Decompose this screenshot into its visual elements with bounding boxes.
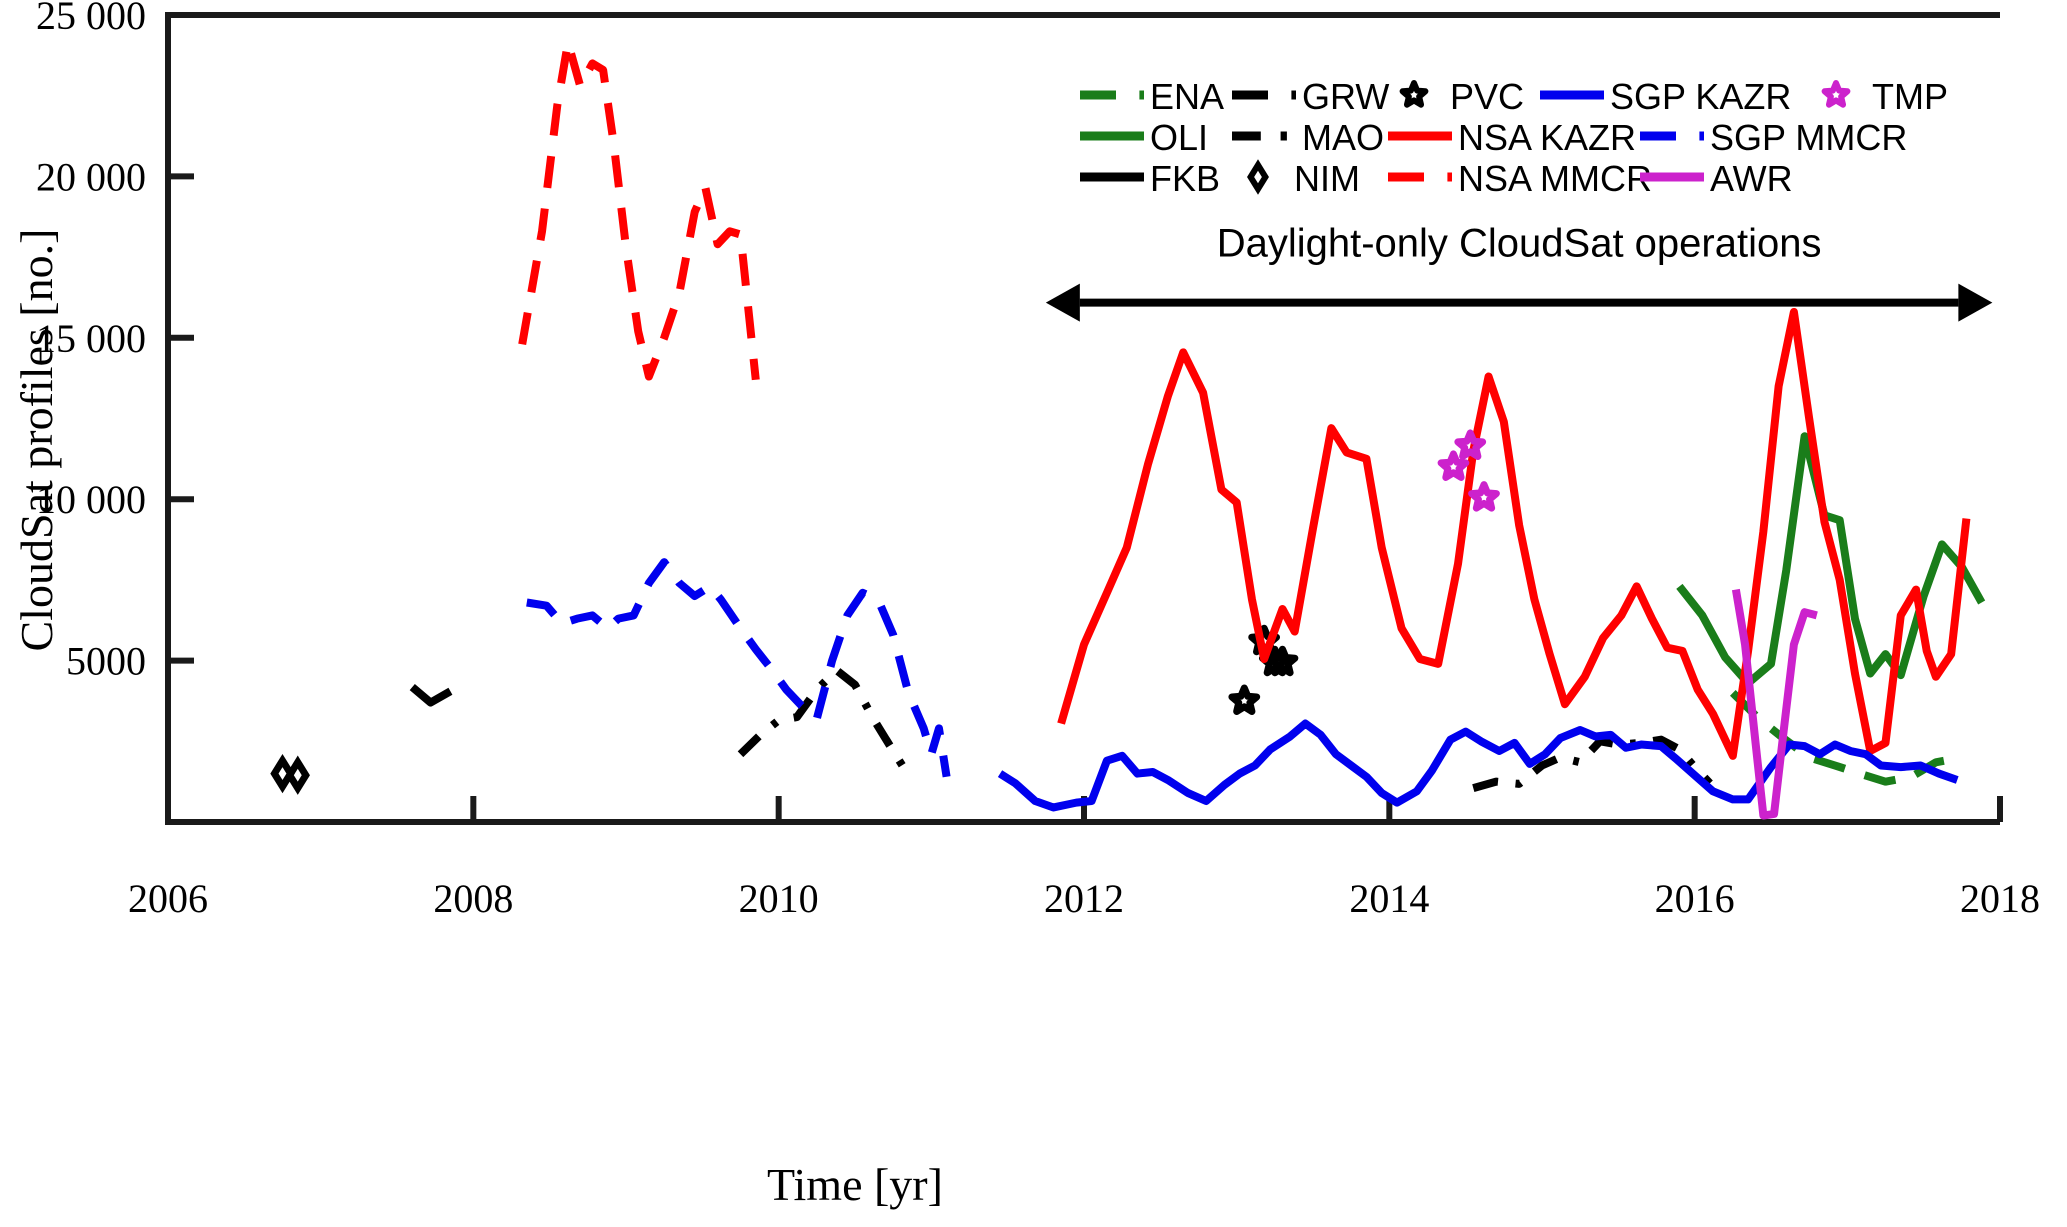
legend-item-mao[interactable]: MAO — [1232, 117, 1384, 158]
series-sgp-kazr — [1000, 724, 1957, 808]
data-marker-pentagram — [1472, 485, 1497, 509]
annotation-arrow-head-left — [1046, 284, 1080, 322]
legend-label: NIM — [1294, 158, 1360, 199]
legend-label: OLI — [1150, 117, 1208, 158]
legend-item-nim[interactable]: NIM — [1251, 158, 1360, 199]
legend-label: SGP MMCR — [1710, 117, 1907, 158]
x-axis-tick-label: 2014 — [1349, 876, 1429, 921]
annotation-arrow-head-right — [1958, 284, 1992, 322]
x-axis-tick-label: 2006 — [128, 876, 208, 921]
legend: ENAGRWPVCSGP KAZRTMPOLIMAONSA KAZRSGP MM… — [1080, 76, 1948, 199]
series-nsa-mmcr — [522, 42, 756, 379]
annotation-layer: Daylight-only CloudSat operations — [1046, 222, 1993, 322]
x-axis-tick-label: 2016 — [1655, 876, 1735, 921]
series-line — [527, 562, 947, 777]
legend-label: SGP KAZR — [1610, 76, 1791, 117]
series-mao — [741, 670, 1710, 788]
x-axis-title: Time [yr] — [767, 1159, 943, 1210]
series-nim — [274, 761, 305, 789]
legend-label: FKB — [1150, 158, 1220, 199]
legend-item-pvc[interactable]: PVC — [1403, 76, 1524, 117]
legend-label: ENA — [1150, 76, 1224, 117]
series-line — [412, 687, 450, 702]
cloudsat-profiles-timeseries-chart: 500010 00015 00020 00025 000200620082010… — [0, 0, 2067, 1227]
legend-label: NSA MMCR — [1458, 158, 1652, 199]
legend-item-ena[interactable]: ENA — [1080, 76, 1224, 117]
y-axis-tick-label: 5000 — [66, 639, 146, 684]
legend-label: NSA KAZR — [1458, 117, 1636, 158]
legend-label: MAO — [1302, 117, 1384, 158]
series-line — [1000, 724, 1957, 808]
legend-item-nsa-mmcr[interactable]: NSA MMCR — [1388, 158, 1652, 199]
legend-item-nsa-kazr[interactable]: NSA KAZR — [1388, 117, 1636, 158]
series-fkb — [412, 687, 450, 702]
legend-item-fkb[interactable]: FKB — [1080, 158, 1220, 199]
chart-figure: 500010 00015 00020 00025 000200620082010… — [0, 0, 2067, 1227]
series-line — [741, 670, 909, 775]
legend-label: TMP — [1872, 76, 1948, 117]
legend-label: PVC — [1450, 76, 1524, 117]
legend-item-sgp-mmcr[interactable]: SGP MMCR — [1640, 117, 1907, 158]
y-axis-tick-label: 25 000 — [36, 0, 146, 38]
legend-marker-diamond-icon — [1251, 165, 1266, 189]
data-marker-diamond — [290, 762, 306, 788]
y-axis-tick-label: 20 000 — [36, 154, 146, 199]
legend-item-oli[interactable]: OLI — [1080, 117, 1208, 158]
legend-label: GRW — [1302, 76, 1389, 117]
annotation-label: Daylight-only CloudSat operations — [1217, 222, 1822, 266]
series-line — [522, 42, 756, 379]
legend-marker-pentagram-icon — [1403, 83, 1426, 105]
y-axis-title: CloudSat profiles [no.] — [11, 229, 62, 652]
legend-item-tmp[interactable]: TMP — [1825, 76, 1948, 117]
legend-item-awr[interactable]: AWR — [1640, 158, 1793, 199]
series-nsa-kazr — [1061, 312, 1966, 756]
legend-item-grw[interactable]: GRW — [1232, 76, 1389, 117]
x-axis-tick-label: 2008 — [433, 876, 513, 921]
legend-item-sgp-kazr[interactable]: SGP KAZR — [1540, 76, 1791, 117]
x-axis-tick-label: 2010 — [739, 876, 819, 921]
x-axis-tick-label: 2012 — [1044, 876, 1124, 921]
series-line — [1061, 312, 1966, 756]
data-marker-pentagram — [1232, 688, 1257, 712]
x-axis-tick-label: 2018 — [1960, 876, 2040, 921]
series-sgp-mmcr — [527, 562, 947, 777]
legend-marker-pentagram-icon — [1825, 83, 1848, 105]
legend-label: AWR — [1710, 158, 1793, 199]
